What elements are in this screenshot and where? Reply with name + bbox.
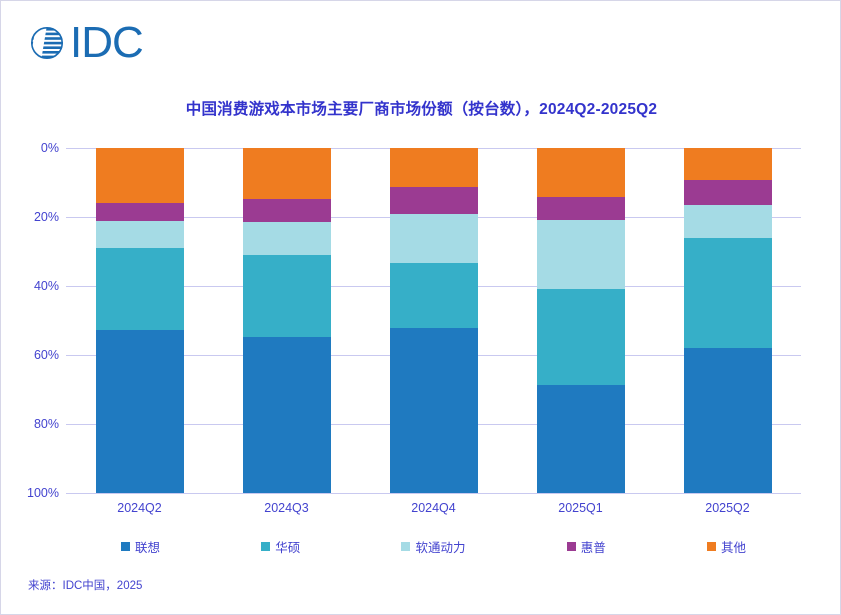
- gridline: [66, 493, 801, 494]
- bar-slot: [507, 148, 654, 493]
- bar-slot: [360, 148, 507, 493]
- y-axis-tick-label: 0%: [9, 141, 59, 155]
- bar-slot: [66, 148, 213, 493]
- bar-segment[interactable]: [390, 263, 478, 328]
- legend-swatch-icon: [707, 542, 716, 551]
- legend-swatch-icon: [261, 542, 270, 551]
- x-axis-labels: 2024Q22024Q32024Q42025Q12025Q2: [66, 501, 801, 515]
- legend-swatch-icon: [567, 542, 576, 551]
- legend-item[interactable]: 惠普: [567, 537, 606, 556]
- legend-label: 软通动力: [415, 537, 465, 556]
- legend-label: 联想: [135, 537, 160, 556]
- y-axis-tick-label: 20%: [9, 210, 59, 224]
- bar-segment[interactable]: [684, 205, 772, 238]
- legend-swatch-icon: [121, 542, 130, 551]
- bar-segment[interactable]: [96, 148, 184, 203]
- bar-segment[interactable]: [390, 148, 478, 187]
- bar-segment[interactable]: [96, 330, 184, 493]
- x-axis-tick-label: 2025Q1: [507, 501, 654, 515]
- y-axis-tick-label: 100%: [9, 486, 59, 500]
- legend-label: 惠普: [581, 537, 606, 556]
- page-title: 中国消费游戏本市场主要厂商市场份额（按台数），2024Q2-2025Q2: [1, 97, 841, 119]
- bar-segment[interactable]: [243, 222, 331, 255]
- bar-segment[interactable]: [243, 337, 331, 493]
- legend-item[interactable]: 其他: [707, 537, 746, 556]
- x-axis-tick-label: 2024Q2: [66, 501, 213, 515]
- stacked-bar[interactable]: [390, 148, 478, 493]
- source-note: 来源：IDC中国，2025: [28, 577, 142, 593]
- bar-segment[interactable]: [96, 221, 184, 248]
- bar-segment[interactable]: [537, 197, 625, 220]
- bar-segment[interactable]: [243, 199, 331, 221]
- idc-logo: IDC: [27, 23, 143, 63]
- bar-segment[interactable]: [243, 255, 331, 337]
- legend-item[interactable]: 华硕: [261, 537, 300, 556]
- globe-icon: [27, 23, 67, 63]
- logo-wordmark: IDC: [70, 23, 143, 63]
- bar-segment[interactable]: [390, 328, 478, 493]
- y-axis-tick-label: 80%: [9, 417, 59, 431]
- bar-segment[interactable]: [537, 148, 625, 197]
- legend: 联想华硕软通动力惠普其他: [66, 537, 801, 556]
- bar-segment[interactable]: [537, 220, 625, 289]
- stacked-bar[interactable]: [96, 148, 184, 493]
- legend-item[interactable]: 软通动力: [401, 537, 465, 556]
- legend-swatch-icon: [401, 542, 410, 551]
- y-axis-tick-label: 40%: [9, 279, 59, 293]
- legend-item[interactable]: 联想: [121, 537, 160, 556]
- plot-area: [66, 148, 801, 493]
- bar-segment[interactable]: [390, 214, 478, 262]
- legend-label: 华硕: [275, 537, 300, 556]
- bar-segment[interactable]: [390, 187, 478, 214]
- bar-segment[interactable]: [243, 148, 331, 199]
- x-axis-tick-label: 2025Q2: [654, 501, 801, 515]
- bar-segment[interactable]: [537, 289, 625, 385]
- y-axis-tick-label: 60%: [9, 348, 59, 362]
- legend-label: 其他: [721, 537, 746, 556]
- bar-segment[interactable]: [96, 248, 184, 330]
- x-axis-tick-label: 2024Q3: [213, 501, 360, 515]
- bar-series-group: [66, 148, 801, 493]
- bar-segment[interactable]: [684, 180, 772, 204]
- stacked-bar[interactable]: [684, 148, 772, 493]
- x-axis-tick-label: 2024Q4: [360, 501, 507, 515]
- stacked-bar[interactable]: [243, 148, 331, 493]
- chart-card: IDC 中国消费游戏本市场主要厂商市场份额（按台数），2024Q2-2025Q2…: [0, 0, 841, 615]
- stacked-bar[interactable]: [537, 148, 625, 493]
- bar-slot: [213, 148, 360, 493]
- bar-segment[interactable]: [684, 348, 772, 493]
- bar-segment[interactable]: [96, 203, 184, 221]
- bar-segment[interactable]: [684, 238, 772, 348]
- bar-segment[interactable]: [684, 148, 772, 180]
- bar-slot: [654, 148, 801, 493]
- bar-segment[interactable]: [537, 385, 625, 493]
